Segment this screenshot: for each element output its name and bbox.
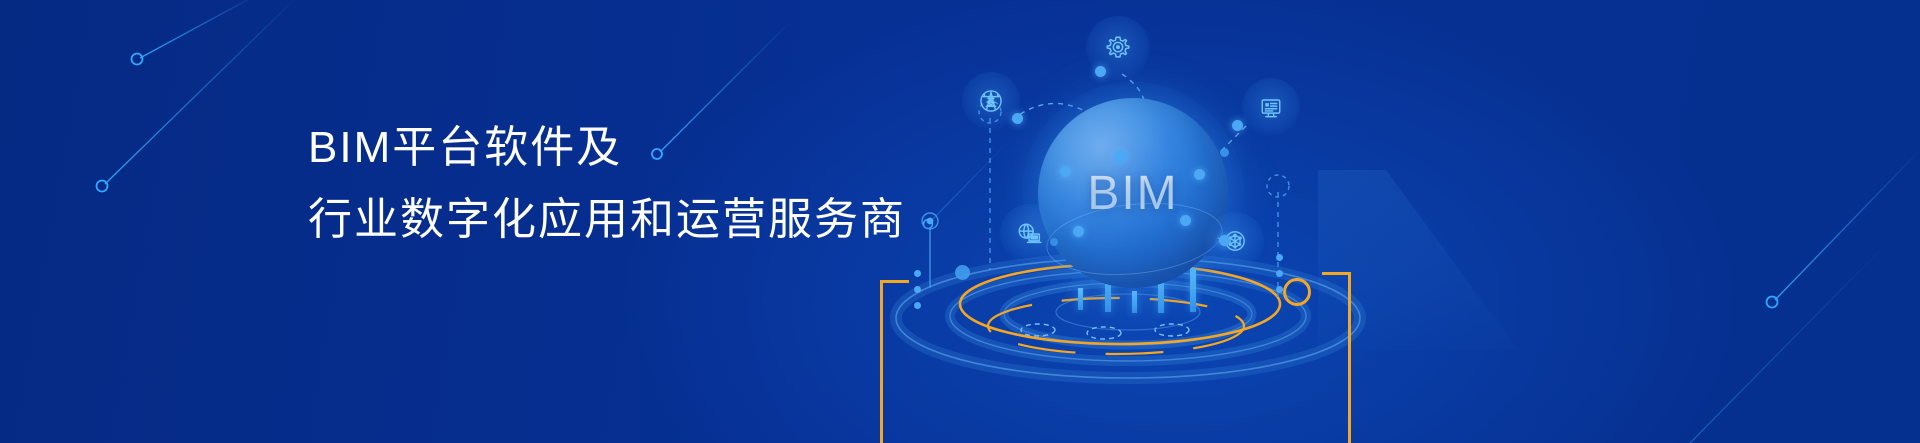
network-nodes-icon-bubble[interactable] [1206, 212, 1264, 270]
dot [1276, 286, 1283, 293]
connector-node-monitor [1232, 120, 1243, 131]
bim-sphere: BIM [1038, 98, 1228, 288]
connector-node-tower [1012, 113, 1023, 124]
headline: BIM平台软件及 行业数字化应用和运营服务商 [308, 112, 906, 256]
connector-node-network [1219, 235, 1230, 246]
connector-node-sphere-left [1060, 166, 1071, 177]
dot [914, 286, 921, 293]
dot-column-left [914, 270, 921, 318]
globe-laptop-icon [1014, 218, 1044, 248]
hero-banner: BIM平台软件及 行业数字化应用和运营服务商 BIM [0, 0, 1920, 443]
globe-laptop-icon-bubble[interactable] [1000, 204, 1058, 262]
connector-node-globe [1073, 226, 1084, 237]
background-decoration [0, 0, 1920, 443]
dot [914, 270, 921, 277]
monitor-icon-bubble[interactable] [1242, 78, 1300, 136]
connector-node-sphere-bottom [1180, 215, 1191, 226]
dot-column-right [1276, 254, 1283, 302]
monitor-icon [1257, 93, 1285, 121]
accent-dot-large [955, 265, 970, 280]
connector-node-gear [1095, 66, 1106, 77]
power-tower-icon-bubble[interactable] [962, 72, 1020, 130]
dot [1276, 254, 1283, 261]
connector-node-sphere-right [1194, 169, 1205, 180]
bracket-left [880, 280, 909, 443]
sphere-label: BIM [1038, 98, 1228, 288]
gear-icon [1103, 33, 1133, 63]
headline-line-2: 行业数字化应用和运营服务商 [308, 184, 906, 256]
dot [1276, 270, 1283, 277]
connector-node-top [1114, 150, 1127, 163]
power-tower-icon [977, 87, 1005, 115]
headline-line-1: BIM平台软件及 [308, 112, 906, 184]
accent-dot-right [1220, 148, 1229, 157]
dot [914, 302, 921, 309]
streak-lines-right [1690, 150, 1920, 443]
orange-circle-marker [1283, 278, 1311, 306]
bracket-right [1322, 272, 1351, 443]
